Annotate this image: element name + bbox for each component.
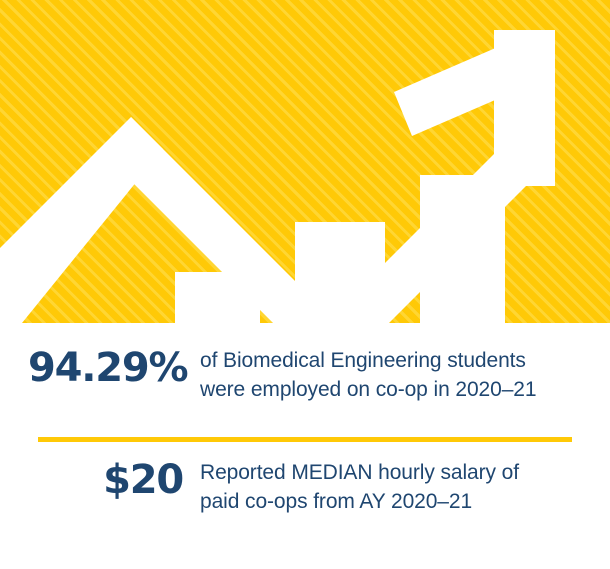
upward-trend-arrow-bar-chart-icon [0, 0, 610, 323]
stat-figure-median-salary: $20 [28, 457, 183, 503]
statistics-section: 94.29% of Biomedical Engineering student… [0, 323, 610, 569]
stat-block-median-salary: $20 Reported MEDIAN hourly salary of pai… [0, 457, 610, 516]
stat-figure-employment-rate: 94.29% [28, 345, 183, 391]
stat-description-line-2: were employed on co-op in 2020–21 [200, 376, 610, 405]
stat-description-median-salary: Reported MEDIAN hourly salary of paid co… [200, 457, 610, 516]
yellow-divider-rule [38, 437, 572, 442]
hero-graphic [0, 0, 610, 323]
arrowhead-bar-vertical [494, 30, 555, 186]
stat-description-line-2: paid co-ops from AY 2020–21 [200, 488, 610, 517]
stat-block-employment-rate: 94.29% of Biomedical Engineering student… [0, 345, 610, 404]
stat-description-line-1: of Biomedical Engineering students [200, 347, 610, 376]
infographic-card: 94.29% of Biomedical Engineering student… [0, 0, 610, 569]
stat-description-employment-rate: of Biomedical Engineering students were … [200, 345, 610, 404]
stat-description-line-1: Reported MEDIAN hourly salary of [200, 459, 610, 488]
